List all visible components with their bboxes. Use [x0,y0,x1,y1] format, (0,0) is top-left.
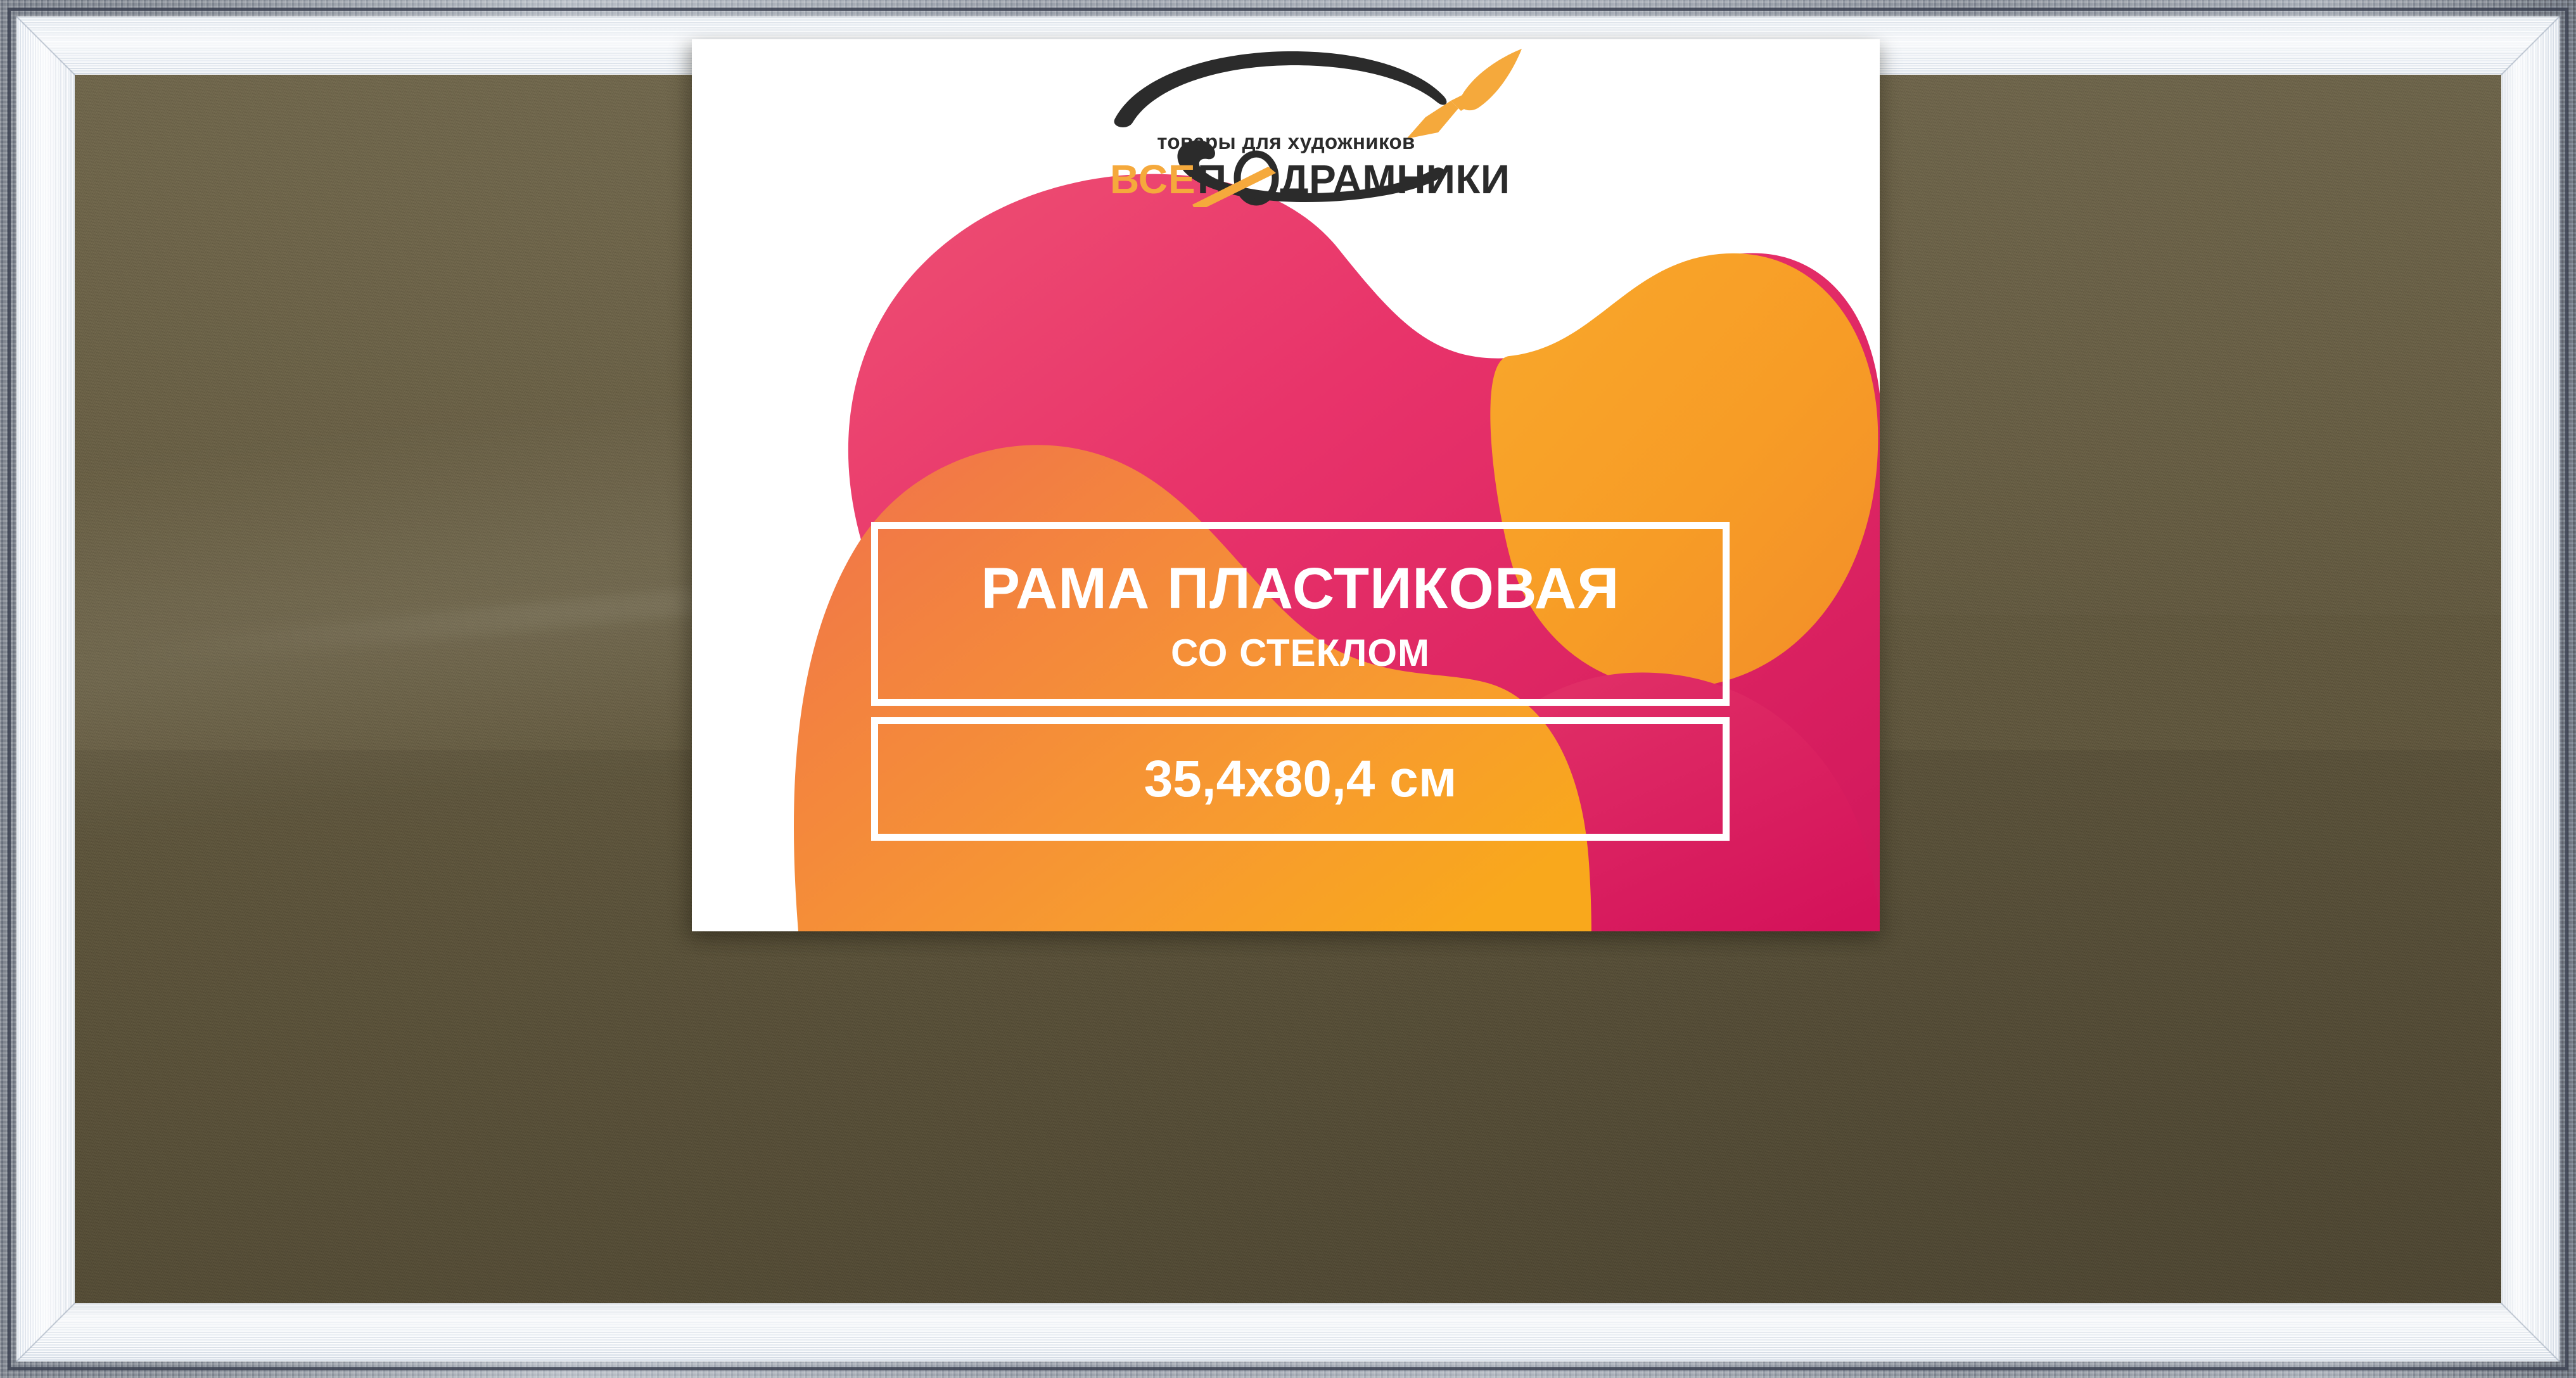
palette-swoosh-icon [1114,51,1446,127]
product-title: РАМА ПЛАСТИКОВАЯ [981,559,1620,618]
label-text-boxes: РАМА ПЛАСТИКОВАЯ СО СТЕКЛОМ 35,4x80,4 см [871,522,1730,841]
brand-name-part3: ДРАМНИКИ [1280,156,1510,202]
brand-name-part1: ВСЕ [1110,156,1196,202]
product-photo: товары для художников ВСЕ П ДРАМНИКИ РАМ… [0,0,2576,1378]
size-box: 35,4x80,4 см [871,717,1730,841]
product-label-card: товары для художников ВСЕ П ДРАМНИКИ РАМ… [692,39,1880,931]
title-box: РАМА ПЛАСТИКОВАЯ СО СТЕКЛОМ [871,522,1730,706]
paintbrush-tip-icon [1459,49,1522,110]
product-subtitle: СО СТЕКЛОМ [1171,634,1430,672]
brand-tagline: товары для художников [1157,130,1415,153]
product-size: 35,4x80,4 см [1144,753,1457,805]
brand-logo: товары для художников ВСЕ П ДРАМНИКИ [692,39,1880,210]
